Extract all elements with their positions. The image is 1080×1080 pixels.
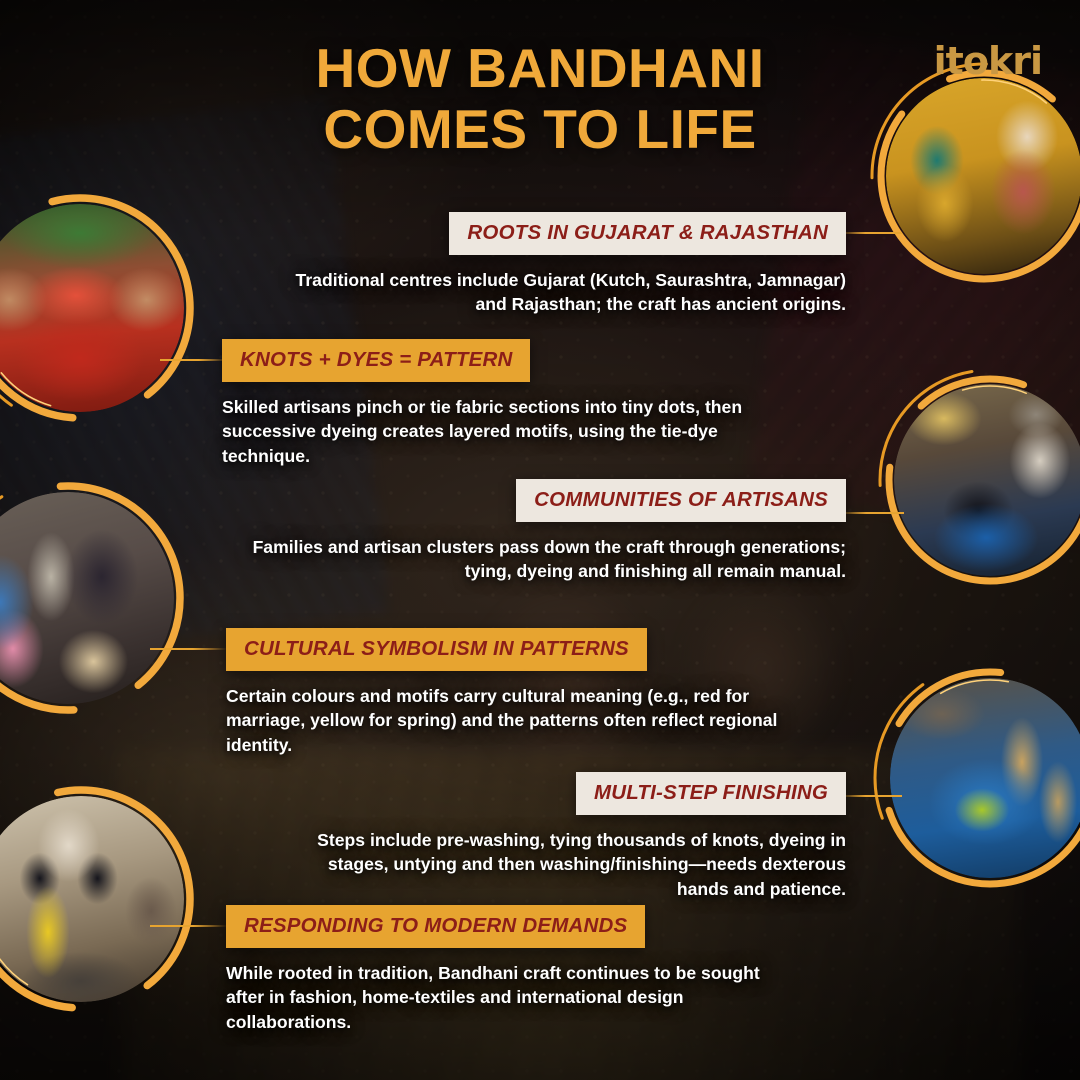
connector-modern [150,925,228,927]
section-finishing-badge[interactable]: MULTI-STEP FINISHING [576,772,846,815]
section-roots: ROOTS IN GUJARAT & RAJASTHAN Traditional… [270,212,846,317]
photo-dyer-blue-tub-image [894,384,1080,576]
section-communities-text: Families and artisan clusters pass down … [240,535,846,584]
section-communities-badge[interactable]: COMMUNITIES OF ARTISANS [516,479,846,522]
section-symbolism: CULTURAL SYMBOLISM IN PATTERNS Certain c… [226,628,782,757]
section-communities: COMMUNITIES OF ARTISANS Families and art… [240,479,846,584]
itokri-logo[interactable]: itokri [922,38,1042,84]
section-roots-badge[interactable]: ROOTS IN GUJARAT & RAJASTHAN [449,212,846,255]
section-finishing: MULTI-STEP FINISHING Steps include pre-w… [300,772,846,901]
photo-dyer-blue-tub [894,384,1080,576]
section-knots-dyes-text: Skilled artisans pinch or tie fabric sec… [222,395,768,468]
page-title-line-1: HOW BANDHANI [0,38,1080,99]
section-knots-dyes: KNOTS + DYES = PATTERN Skilled artisans … [222,339,768,468]
section-modern-demands-badge[interactable]: RESPONDING TO MODERN DEMANDS [226,905,645,948]
infographic-poster: HOW BANDHANI COMES TO LIFE itokri [0,0,1080,1080]
section-modern-demands-text: While rooted in tradition, Bandhani craf… [226,961,792,1034]
section-symbolism-text: Certain colours and motifs carry cultura… [226,684,782,757]
itokri-logo-text: itokri [922,38,1042,84]
section-roots-text: Traditional centres include Gujarat (Kut… [270,268,846,317]
section-knots-dyes-badge[interactable]: KNOTS + DYES = PATTERN [222,339,530,382]
connector-symbolism [150,648,228,650]
section-modern-demands: RESPONDING TO MODERN DEMANDS While roote… [226,905,792,1034]
connector-knots-dyes [160,359,230,361]
photo-indigo-vat-image [890,678,1080,878]
page-title-line-2: COMES TO LIFE [0,99,1080,160]
connector-communities [836,512,904,514]
page-title: HOW BANDHANI COMES TO LIFE [0,38,1080,159]
photo-indigo-vat [890,678,1080,878]
section-finishing-text: Steps include pre-washing, tying thousan… [300,828,846,901]
section-symbolism-badge[interactable]: CULTURAL SYMBOLISM IN PATTERNS [226,628,647,671]
